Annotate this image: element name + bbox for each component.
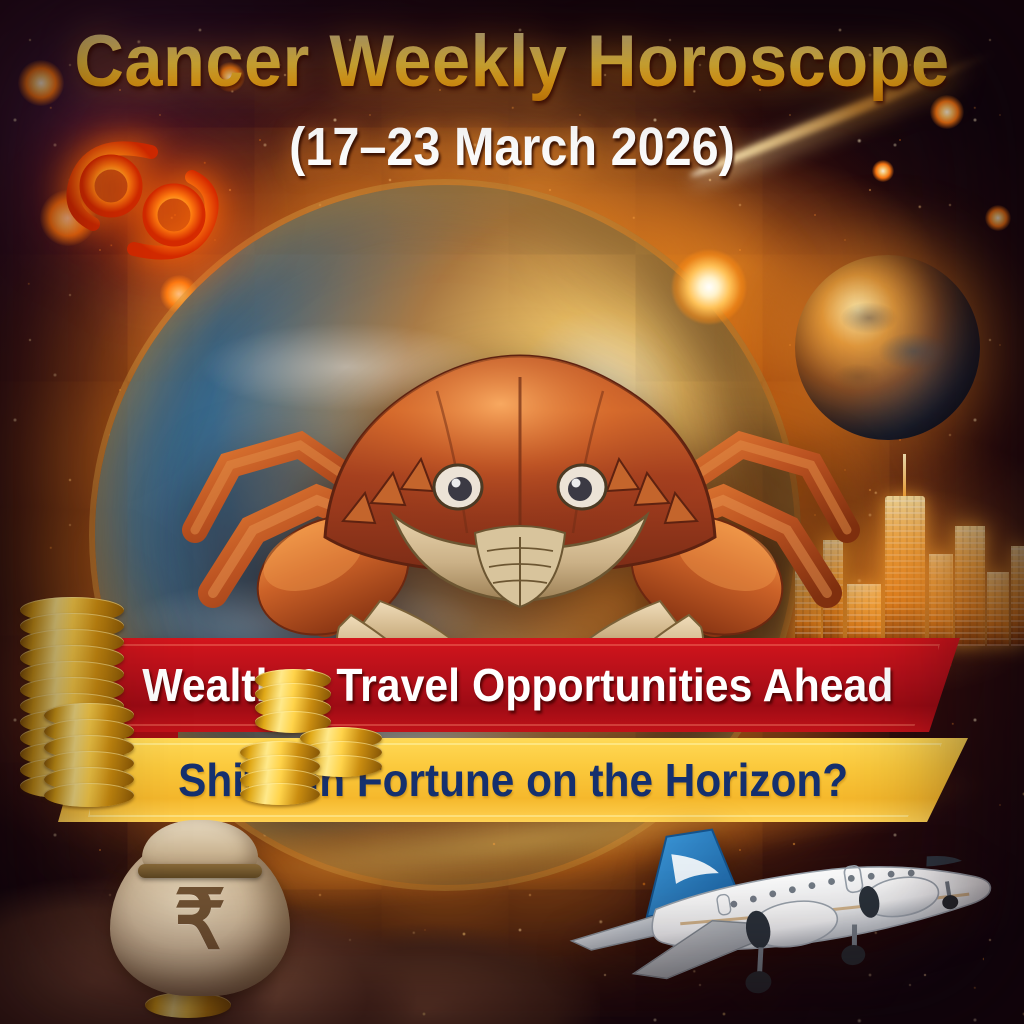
crab-illustration [175, 325, 865, 655]
headline-banner-red: Wealth & Travel Opportunities Ahead [76, 638, 960, 732]
date-range: (17–23 March 2026) [51, 116, 973, 178]
page-title: Cancer Weekly Horoscope [31, 20, 994, 103]
airliner-illustration [530, 804, 1024, 1019]
glow-star [985, 205, 1011, 231]
horoscope-poster: Cancer Weekly Horoscope (17–23 March 202… [0, 0, 1024, 1024]
rupee-symbol: ₹ [110, 864, 290, 976]
comet-head [672, 250, 746, 324]
gold-coin-stacks: ₹ [0, 809, 380, 1024]
red-banner-text: Wealth & Travel Opportunities Ahead [142, 658, 893, 712]
